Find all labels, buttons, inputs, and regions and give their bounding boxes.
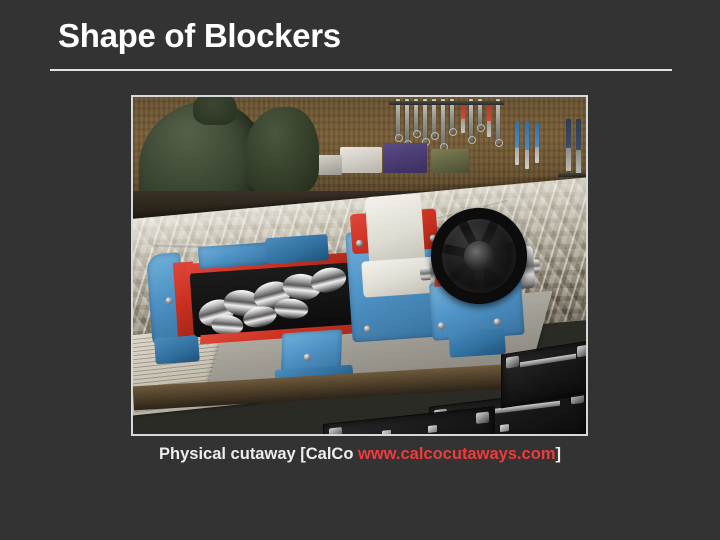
tool-icon — [487, 101, 491, 137]
case-latch — [382, 430, 391, 434]
pump-left-foot — [154, 335, 200, 364]
photo-frame — [131, 95, 588, 436]
case-corner — [329, 427, 342, 434]
flight-case — [323, 406, 495, 434]
screwdriver-icon — [525, 121, 529, 169]
pump-cutaway-photo — [133, 97, 586, 434]
photo-caption: Physical cutaway [CalCo www.calcocutaway… — [0, 445, 720, 464]
wrench-icon — [405, 99, 409, 145]
wrench-icon — [441, 99, 445, 148]
screwdriver-icon — [515, 121, 519, 165]
flywheel-rim — [431, 208, 527, 304]
case-latch — [500, 424, 509, 432]
tool-shelf — [389, 101, 504, 105]
tool-icon — [461, 101, 465, 133]
storage-bin — [383, 143, 427, 173]
storage-bin — [316, 155, 342, 175]
pump-housing-block — [265, 234, 329, 264]
storage-bin — [340, 147, 382, 173]
screwdriver-icon — [576, 119, 581, 175]
caption-prefix: Physical cutaway [CalCo — [159, 445, 358, 463]
title-divider — [50, 69, 672, 71]
screwdriver-icon — [535, 123, 539, 163]
screwdriver-icon — [566, 119, 571, 171]
case-corner — [577, 344, 586, 357]
wrench-icon — [496, 99, 500, 144]
tool-shelf — [558, 173, 586, 177]
person-silhouette — [245, 107, 319, 193]
pump-right-foot — [448, 328, 506, 358]
case-bar — [520, 354, 576, 368]
wrench-icon — [469, 99, 473, 141]
flywheel — [431, 208, 527, 304]
person-head — [193, 97, 237, 125]
caption-url[interactable]: www.calcocutaways.com — [358, 445, 555, 463]
case-latch — [428, 425, 437, 433]
wrench-icon — [396, 99, 400, 139]
slide-canvas: Shape of Blockers — [0, 0, 720, 540]
caption-suffix: ] — [555, 445, 561, 463]
page-title: Shape of Blockers — [58, 14, 341, 58]
case-corner — [476, 412, 489, 424]
case-corner — [506, 356, 519, 369]
storage-bin — [431, 149, 469, 173]
wrench-icon — [423, 99, 427, 143]
